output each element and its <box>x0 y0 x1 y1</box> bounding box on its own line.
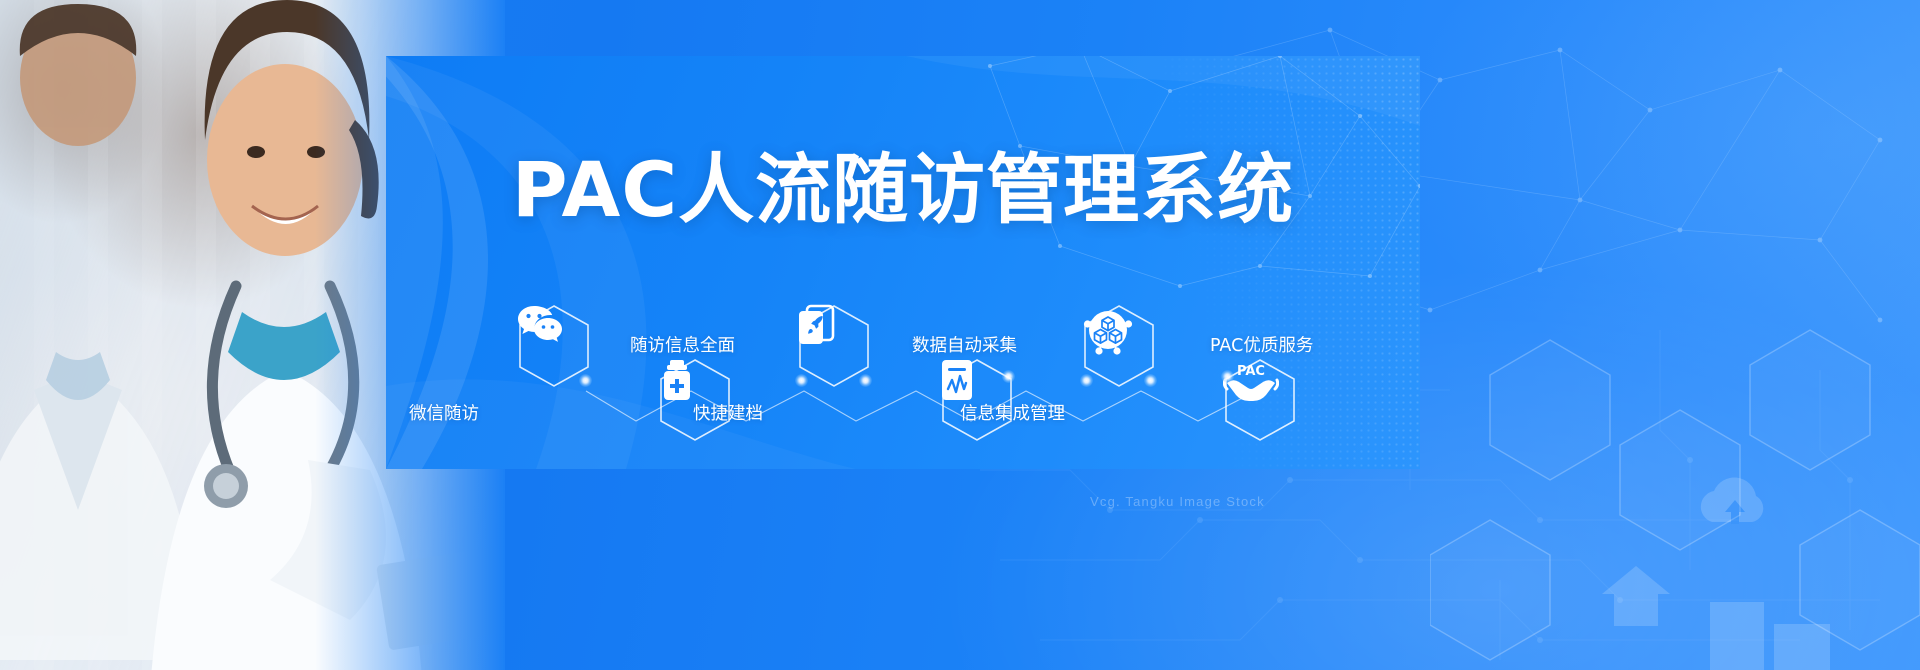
hexagon-decoration <box>1430 300 1920 670</box>
page-title: PAC人流随访管理系统 <box>386 152 1420 228</box>
svg-text:PAC: PAC <box>1237 364 1265 379</box>
feature-quick-record[interactable] <box>797 304 871 388</box>
connector-spark <box>1221 370 1234 383</box>
label-integrated-management: 信息集成管理 <box>960 406 1065 424</box>
connector-spark <box>579 374 592 387</box>
pac-hands-icon: PAC <box>1223 358 1297 442</box>
cloud-upload-icon <box>1690 470 1780 540</box>
main-card: PAC人流随访管理系统 <box>386 56 1420 469</box>
feature-pac-service[interactable]: PAC <box>1223 358 1297 442</box>
hexagon-frame <box>658 358 732 442</box>
watermark: Vcg. Tangku Image Stock <box>1090 494 1265 509</box>
label-pac-quality: PAC优质服务 <box>1210 338 1313 356</box>
connector-spark <box>1144 374 1157 387</box>
label-auto-collect: 数据自动采集 <box>912 338 1017 356</box>
banner-stage: PAC人流随访管理系统 <box>0 0 1920 670</box>
feature-data-chart[interactable] <box>940 358 1014 442</box>
label-wechat-followup: 微信随访 <box>409 406 479 424</box>
connector-spark <box>1080 374 1093 387</box>
building-icon <box>1700 580 1840 670</box>
hexagon-frame: PAC <box>1223 358 1297 442</box>
feature-medical-kit[interactable] <box>658 358 732 442</box>
chart-document-icon <box>940 358 1014 442</box>
feature-strip: PAC 随访信息全面 数据自动采集 PAC优质服务 微信随访 快捷建档 信息集成… <box>386 296 1420 456</box>
hexagon-frame <box>940 358 1014 442</box>
connector-spark <box>1002 370 1015 383</box>
connector-spark <box>859 374 872 387</box>
medical-kit-icon <box>658 358 732 442</box>
feature-integrated-management[interactable] <box>1082 304 1156 388</box>
feature-wechat-followup[interactable] <box>517 304 591 388</box>
connector-spark <box>795 374 808 387</box>
label-quick-record: 快捷建档 <box>693 406 763 424</box>
home-icon <box>1600 560 1672 632</box>
label-followup-complete: 随访信息全面 <box>630 338 735 356</box>
